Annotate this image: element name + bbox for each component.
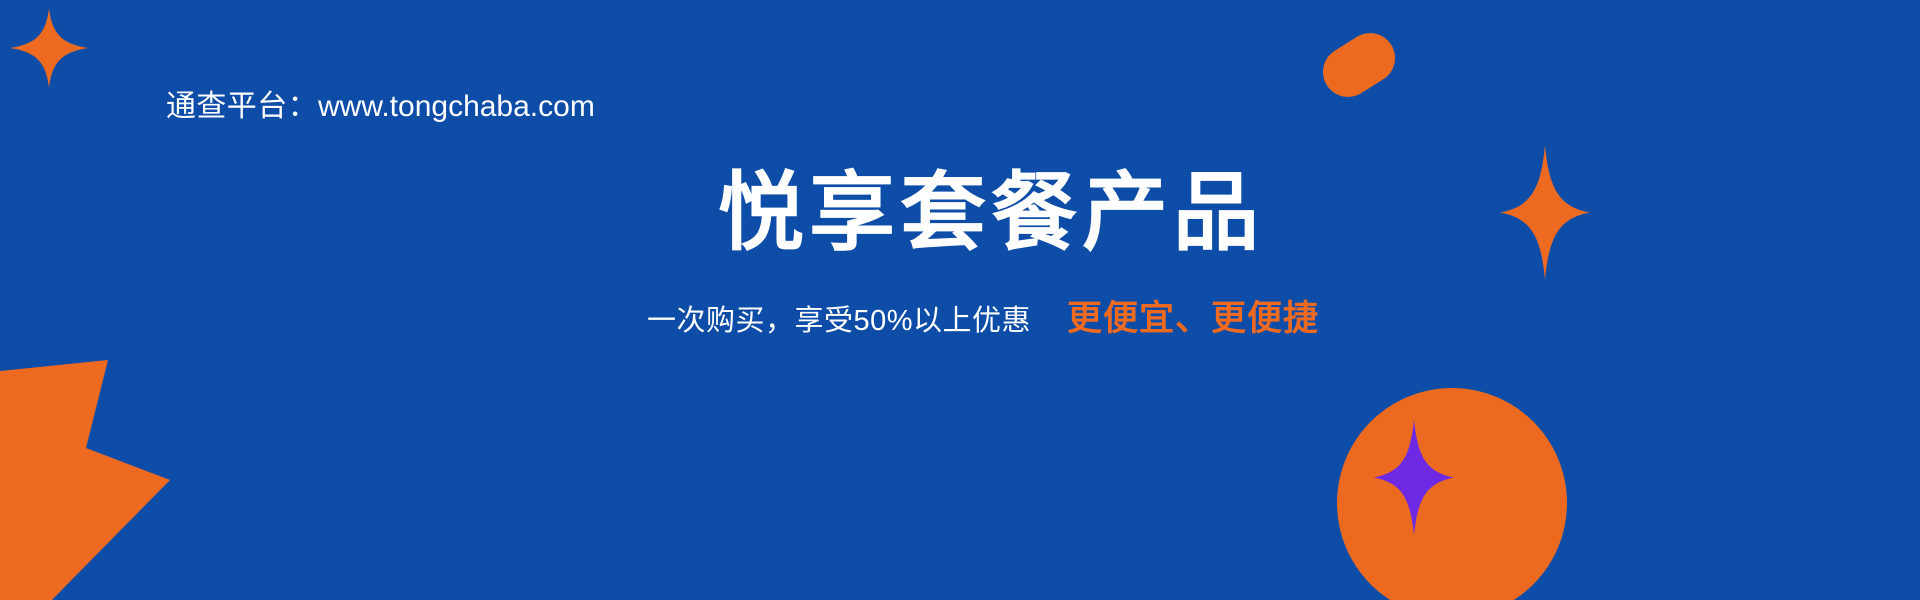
page-title: 悦享套餐产品 [0, 163, 1920, 263]
site-line: 通查平台：www.tongchaba.com [166, 88, 595, 126]
subtitle-plain-text: 一次购买，享受50%以上优惠 [647, 305, 1031, 337]
site-url: www.tongchaba.com [318, 90, 595, 123]
subtitle-line: 一次购买，享受50%以上优惠更便宜、更便捷 [0, 296, 1920, 349]
site-label: 通查平台： [166, 90, 318, 123]
subtitle-accent-text: 更便宜、更便捷 [1067, 299, 1319, 338]
promo-banner: 通查平台：www.tongchaba.com 悦享套餐产品 一次购买，享受50%… [0, 0, 1920, 600]
